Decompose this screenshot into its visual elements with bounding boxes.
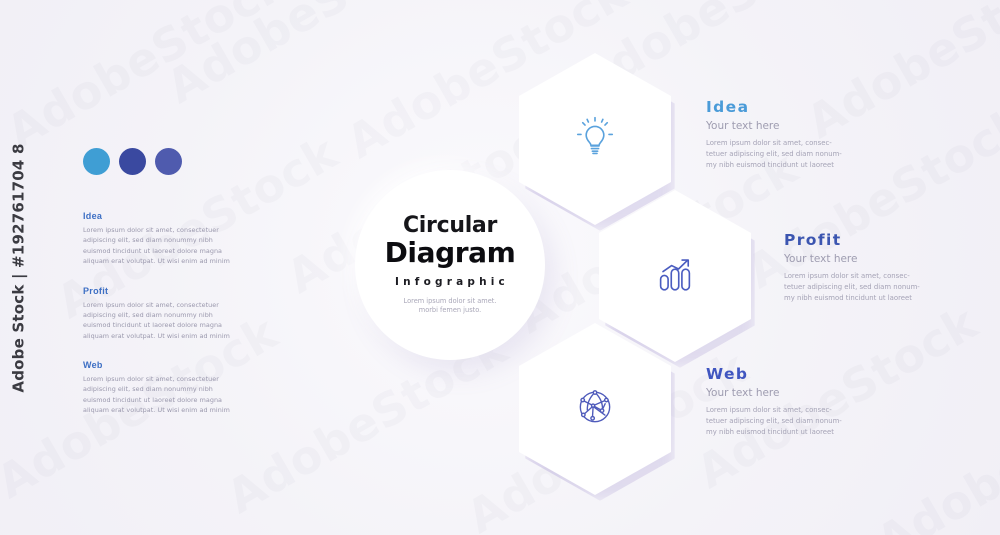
step-body-web: Lorem ipsum dolor sit amet, consec- tetu… [706, 405, 886, 439]
swatch-dark-indigo [119, 148, 146, 175]
credit-text: Adobe Stock | #192761704 8 [10, 143, 28, 392]
center-title-line1: Circular [403, 214, 497, 237]
swatch-slate-blue [155, 148, 182, 175]
sidebar-body-profit: Lorem ipsum dolor sit amet, consectetuer… [83, 300, 233, 342]
network-globe-icon [573, 385, 617, 434]
hexagon-web[interactable] [519, 323, 671, 495]
step-body-line1: Lorem ipsum dolor sit amet, consec- [784, 272, 910, 280]
sidebar-block-idea: Idea Lorem ipsum dolor sit amet, consect… [83, 211, 233, 267]
center-subtitle-line1: Lorem ipsum dolor sit amet. [404, 297, 497, 305]
step-title-idea: Idea [706, 99, 886, 116]
step-text-web: Web Your text here Lorem ipsum dolor sit… [706, 366, 886, 438]
step-subtitle-idea: Your text here [706, 120, 886, 133]
step-body-line3: my nibh euismod tincidunt ut laoreet [706, 428, 834, 436]
lightbulb-icon [572, 114, 618, 165]
sidebar-title-profit: Profit [83, 286, 233, 296]
step-body-line2: tetuer adipiscing elit, sed diam nonum- [706, 150, 842, 158]
step-body-idea: Lorem ipsum dolor sit amet, consec- tetu… [706, 138, 886, 172]
watermark-text: AdobeStock [158, 0, 457, 114]
center-subtitle-line2: morbi femen justo. [419, 306, 481, 314]
step-body-line1: Lorem ipsum dolor sit amet, consec- [706, 406, 832, 414]
step-title-web: Web [706, 366, 886, 383]
growth-chart-icon [652, 251, 698, 302]
center-subtitle: Lorem ipsum dolor sit amet. morbi femen … [404, 297, 497, 317]
step-body-line3: my nibh euismod tincidunt ut laoreet [706, 161, 834, 169]
sidebar-block-web: Web Lorem ipsum dolor sit amet, consecte… [83, 360, 233, 416]
step-text-idea: Idea Your text here Lorem ipsum dolor si… [706, 99, 886, 171]
center-title-line2: Diagram [385, 238, 516, 269]
sidebar-title-idea: Idea [83, 211, 233, 221]
step-body-line3: my nibh euismod tincidunt ut laoreet [784, 294, 912, 302]
adobe-stock-credit: Adobe Stock | #192761704 8 [2, 0, 36, 535]
sidebar-block-profit: Profit Lorem ipsum dolor sit amet, conse… [83, 286, 233, 342]
center-title-line3: Infographic [391, 276, 509, 288]
sidebar: Idea Lorem ipsum dolor sit amet, consect… [83, 148, 233, 435]
watermark-text: AdobeStock [868, 365, 1000, 535]
sidebar-body-web: Lorem ipsum dolor sit amet, consectetuer… [83, 374, 233, 416]
step-subtitle-web: Your text here [706, 387, 886, 400]
sidebar-body-idea: Lorem ipsum dolor sit amet, consectetuer… [83, 225, 233, 267]
sidebar-title-web: Web [83, 360, 233, 370]
step-body-line2: tetuer adipiscing elit, sed diam nonum- [706, 417, 842, 425]
center-circle: Circular Diagram Infographic Lorem ipsum… [355, 170, 545, 360]
step-body-line2: tetuer adipiscing elit, sed diam nonum- [784, 283, 920, 291]
swatch-light-blue [83, 148, 110, 175]
step-subtitle-profit: Your text here [784, 253, 964, 266]
color-swatch-group [83, 148, 233, 175]
step-text-profit: Profit Your text here Lorem ipsum dolor … [784, 232, 964, 304]
step-title-profit: Profit [784, 232, 964, 249]
watermark-text: AdobeStock [0, 0, 296, 159]
step-body-profit: Lorem ipsum dolor sit amet, consec- tetu… [784, 271, 964, 305]
infographic-canvas: AdobeStock AdobeStock AdobeStock AdobeSt… [0, 0, 1000, 535]
step-body-line1: Lorem ipsum dolor sit amet, consec- [706, 139, 832, 147]
